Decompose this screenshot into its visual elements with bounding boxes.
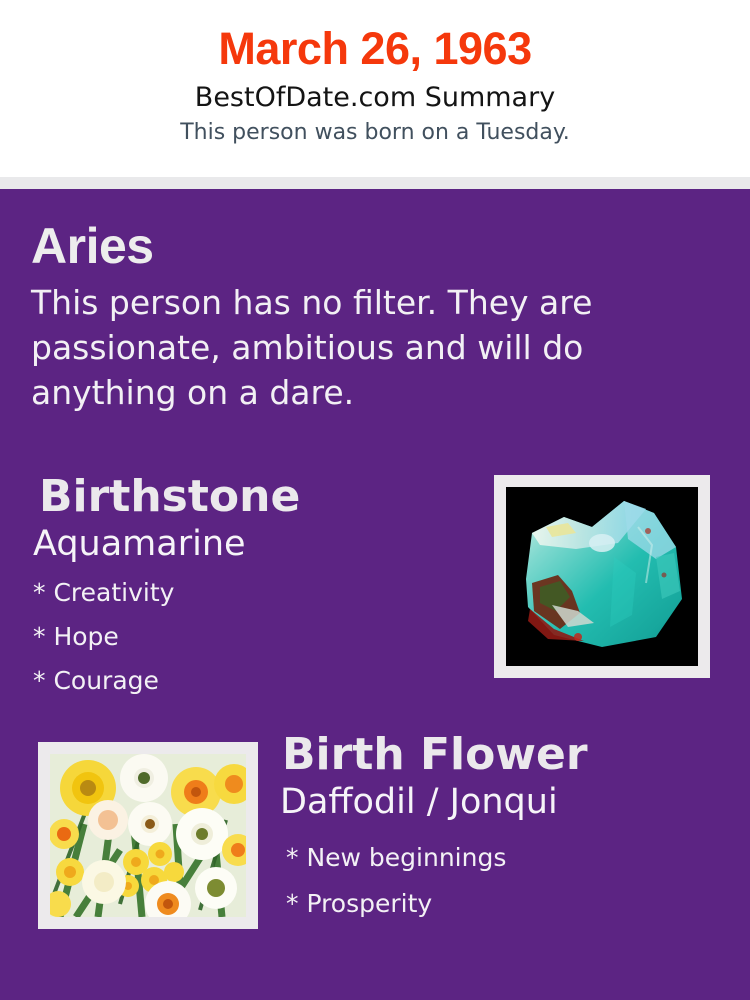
birthstone-title: Birthstone xyxy=(39,471,473,523)
birthflower-section: Birth Flower Daffodil / Jonqui * New beg… xyxy=(280,729,730,927)
list-item: * New beginnings xyxy=(286,835,730,881)
birthflower-image-frame xyxy=(38,742,258,929)
header-divider xyxy=(0,177,750,189)
page-header: March 26, 1963 BestOfDate.com Summary Th… xyxy=(0,0,750,177)
daffodil-bouquet-photo xyxy=(50,754,246,917)
birthstone-section: Birthstone Aquamarine * Creativity * Hop… xyxy=(33,471,473,703)
birthflower-title: Birth Flower xyxy=(282,729,730,781)
page-title-date: March 26, 1963 xyxy=(0,22,750,76)
list-item: * Hope xyxy=(33,615,473,659)
list-item: * Creativity xyxy=(33,571,473,615)
list-item: * Courage xyxy=(33,659,473,703)
aquamarine-crystal-illustration xyxy=(506,487,698,666)
summary-panel: Aries This person has no filter. They ar… xyxy=(0,189,750,1000)
birthstone-name: Aquamarine xyxy=(33,523,473,565)
zodiac-description: This person has no filter. They are pass… xyxy=(31,280,641,415)
zodiac-sign-title: Aries xyxy=(31,218,671,274)
daffodil-bouquet-illustration xyxy=(50,754,246,917)
weekday-statement: This person was born on a Tuesday. xyxy=(0,118,750,148)
birthstone-traits-list: * Creativity * Hope * Courage xyxy=(33,571,473,703)
birthflower-traits-list: * New beginnings * Prosperity xyxy=(286,835,730,927)
zodiac-section: Aries This person has no filter. They ar… xyxy=(31,218,671,415)
site-summary-label: BestOfDate.com Summary xyxy=(0,80,750,116)
list-item: * Prosperity xyxy=(286,881,730,927)
birthstone-image-frame xyxy=(494,475,710,678)
birthflower-name: Daffodil / Jonqui xyxy=(280,781,730,823)
aquamarine-crystal-photo xyxy=(506,487,698,666)
